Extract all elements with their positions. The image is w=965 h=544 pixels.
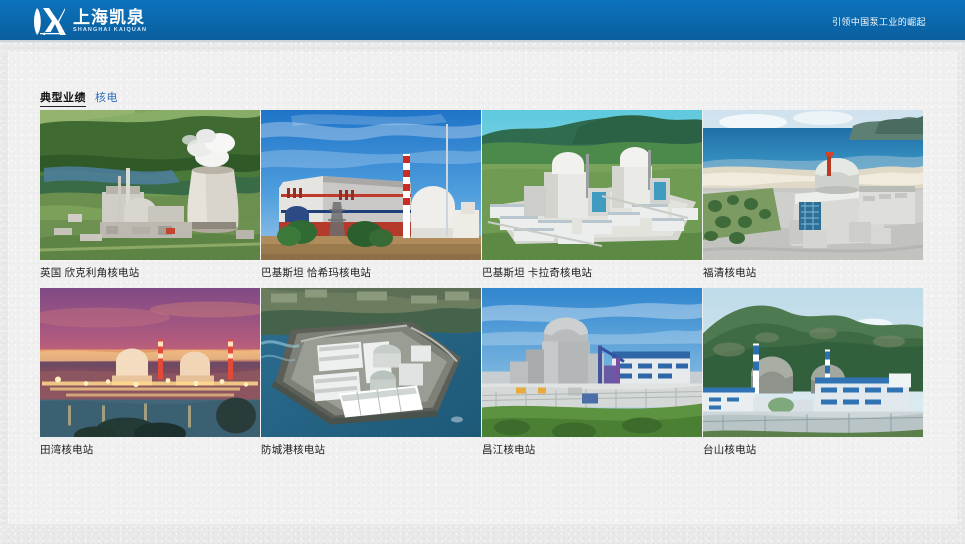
- project-card[interactable]: 英国 欣克利角核电站: [40, 110, 260, 280]
- project-caption: 巴基斯坦 卡拉奇核电站: [482, 266, 702, 280]
- project-card[interactable]: 巴基斯坦 恰希玛核电站: [261, 110, 481, 280]
- project-card[interactable]: 巴基斯坦 卡拉奇核电站: [482, 110, 702, 280]
- kaiquan-kx-monogram-icon: [34, 6, 68, 37]
- project-gallery: 英国 欣克利角核电站: [40, 110, 925, 457]
- project-card[interactable]: 田湾核电站: [40, 288, 260, 457]
- project-thumbnail-fuqing[interactable]: [703, 110, 923, 260]
- project-caption: 台山核电站: [703, 443, 923, 457]
- project-caption: 防城港核电站: [261, 443, 481, 457]
- project-thumbnail-changjiang[interactable]: [482, 288, 702, 437]
- project-thumbnail-chashma[interactable]: [261, 110, 481, 260]
- brand-logo[interactable]: 上海凯泉 SHANGHAI KAIQUAN: [34, 5, 147, 37]
- project-thumbnail-taishan[interactable]: [703, 288, 923, 437]
- brand-name-en: SHANGHAI KAIQUAN: [73, 28, 147, 34]
- project-caption: 巴基斯坦 恰希玛核电站: [261, 266, 481, 280]
- project-caption: 昌江核电站: [482, 443, 702, 457]
- project-caption: 田湾核电站: [40, 443, 260, 457]
- content-sheet: 典型业绩 核电: [8, 52, 957, 524]
- page-title: 典型业绩: [40, 89, 86, 107]
- header-slogan: 引领中国泵工业的崛起: [832, 0, 926, 42]
- site-header: 上海凯泉 SHANGHAI KAIQUAN 引领中国泵工业的崛起: [0, 0, 965, 42]
- section-header: 典型业绩 核电: [40, 89, 118, 107]
- project-card[interactable]: 台山核电站: [703, 288, 923, 457]
- project-thumbnail-tianwan[interactable]: [40, 288, 260, 437]
- project-caption: 英国 欣克利角核电站: [40, 266, 260, 280]
- project-thumbnail-fangchenggang[interactable]: [261, 288, 481, 437]
- section-category-nuclear[interactable]: 核电: [95, 89, 118, 105]
- project-thumbnail-karachi[interactable]: [482, 110, 702, 260]
- project-thumbnail-hinkley[interactable]: [40, 110, 260, 260]
- brand-name-cn: 上海凯泉: [73, 9, 147, 26]
- project-card[interactable]: 昌江核电站: [482, 288, 702, 457]
- project-card[interactable]: 福清核电站: [703, 110, 923, 280]
- project-card[interactable]: 防城港核电站: [261, 288, 481, 457]
- project-caption: 福清核电站: [703, 266, 923, 280]
